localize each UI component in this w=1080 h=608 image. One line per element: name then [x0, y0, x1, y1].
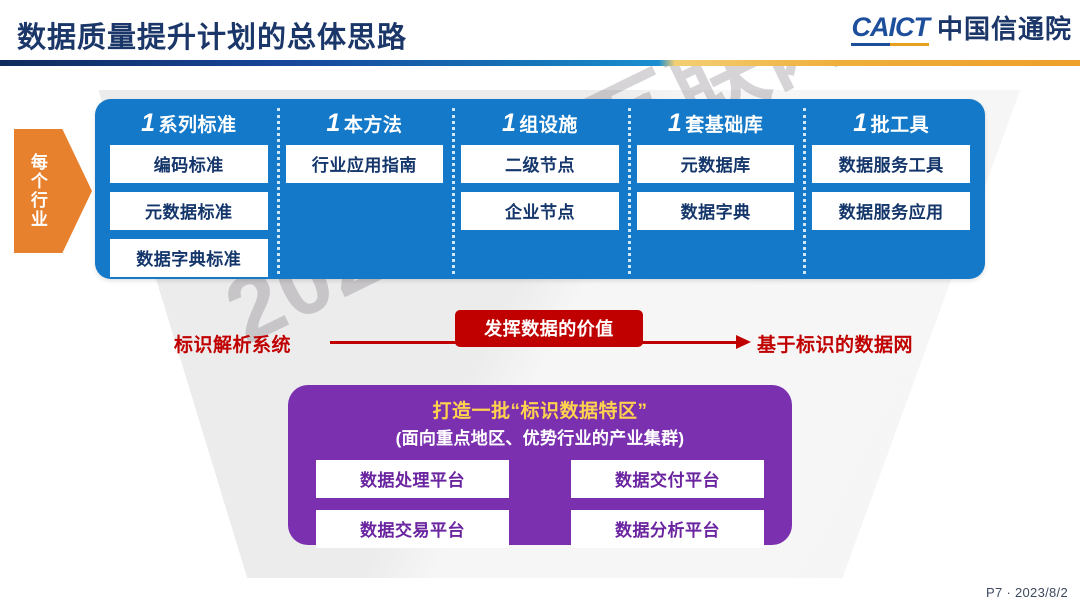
pillar-heading-label: 批工具 — [871, 115, 930, 136]
data-special-zone-subtitle: (面向重点地区、优势行业的产业集群) — [316, 424, 764, 449]
pillar-item[interactable]: 数据服务工具 — [812, 145, 970, 183]
platform-box[interactable]: 数据交易平台 — [316, 510, 509, 548]
pillar-number: 1 — [853, 109, 870, 137]
every-industry-label: 每个行业 — [28, 153, 46, 229]
pillar-heading-label: 本方法 — [344, 115, 403, 136]
platform-box[interactable]: 数据交付平台 — [571, 460, 764, 498]
pillar-heading: 1系列标准 — [141, 109, 236, 138]
pillar-item[interactable]: 数据字典标准 — [110, 239, 268, 277]
pillar-number: 1 — [502, 109, 519, 137]
pillar-heading-label: 系列标准 — [158, 115, 236, 136]
platform-box[interactable]: 数据分析平台 — [571, 510, 764, 548]
pillar-number: 1 — [668, 109, 685, 137]
caict-logo: CAICT 中国信通院 — [851, 14, 1072, 46]
pillar-standards: 1系列标准 编码标准 元数据标准 数据字典标准 — [101, 106, 277, 272]
pillar-item[interactable]: 编码标准 — [110, 145, 268, 183]
pillar-facilities: 1组设施 二级节点 企业节点 — [452, 106, 628, 272]
pillar-method: 1本方法 行业应用指南 — [277, 106, 453, 272]
pillar-heading-label: 组设施 — [519, 115, 578, 136]
flow-value-badge: 发挥数据的价值 — [455, 310, 643, 347]
pillar-item[interactable]: 元数据标准 — [110, 192, 268, 230]
data-special-zone-panel: 打造一批“标识数据特区” (面向重点地区、优势行业的产业集群) 数据处理平台 数… — [288, 385, 792, 545]
pillar-heading: 1组设施 — [502, 109, 578, 138]
caict-logo-latin: CAICT — [851, 14, 929, 46]
pillar-base-library: 1套基础库 元数据库 数据字典 — [628, 106, 804, 272]
pillar-item[interactable]: 数据字典 — [637, 192, 795, 230]
capability-pillars-panel: 1系列标准 编码标准 元数据标准 数据字典标准 1本方法 行业应用指南 1组设施… — [95, 99, 985, 279]
header-divider-rule — [0, 60, 1080, 66]
pillar-number: 1 — [326, 109, 343, 137]
pillar-item[interactable]: 行业应用指南 — [286, 145, 444, 183]
data-special-zone-title: 打造一批“标识数据特区” — [316, 396, 764, 423]
pillar-item[interactable]: 二级节点 — [461, 145, 619, 183]
pillar-heading: 1套基础库 — [668, 109, 763, 138]
pillar-heading: 1本方法 — [326, 109, 402, 138]
slide-footer: P7 · 2023/8/2 — [986, 585, 1068, 600]
pillar-item[interactable]: 企业节点 — [461, 192, 619, 230]
page-title: 数据质量提升计划的总体思路 — [17, 14, 407, 56]
platform-box[interactable]: 数据处理平台 — [316, 460, 509, 498]
pillar-number: 1 — [141, 109, 158, 137]
pillar-heading-label: 套基础库 — [685, 115, 763, 136]
slide-canvas: 2023工业互联网大会 数据质量提升计划的总体思路 CAICT 中国信通院 每个… — [0, 0, 1080, 608]
caict-logo-chinese: 中国信通院 — [937, 16, 1072, 46]
pillar-heading: 1批工具 — [853, 109, 929, 138]
platform-grid: 数据处理平台 数据交付平台 数据交易平台 数据分析平台 — [316, 460, 764, 548]
slide-header: 数据质量提升计划的总体思路 CAICT 中国信通院 — [0, 0, 1080, 62]
flow-source-label: 标识解析系统 — [174, 330, 291, 357]
pillar-tools: 1批工具 数据服务工具 数据服务应用 — [803, 106, 979, 272]
caict-logo-underline-gold — [890, 43, 929, 46]
caict-logo-underline-blue — [851, 43, 890, 46]
every-industry-arrow: 每个行业 — [14, 129, 92, 253]
flow-target-label: 基于标识的数据网 — [757, 330, 913, 357]
flow-arrow-head-icon — [736, 335, 751, 349]
pillar-item[interactable]: 元数据库 — [637, 145, 795, 183]
pillar-item[interactable]: 数据服务应用 — [812, 192, 970, 230]
caict-logo-latin-text: CAICT — [851, 12, 929, 42]
